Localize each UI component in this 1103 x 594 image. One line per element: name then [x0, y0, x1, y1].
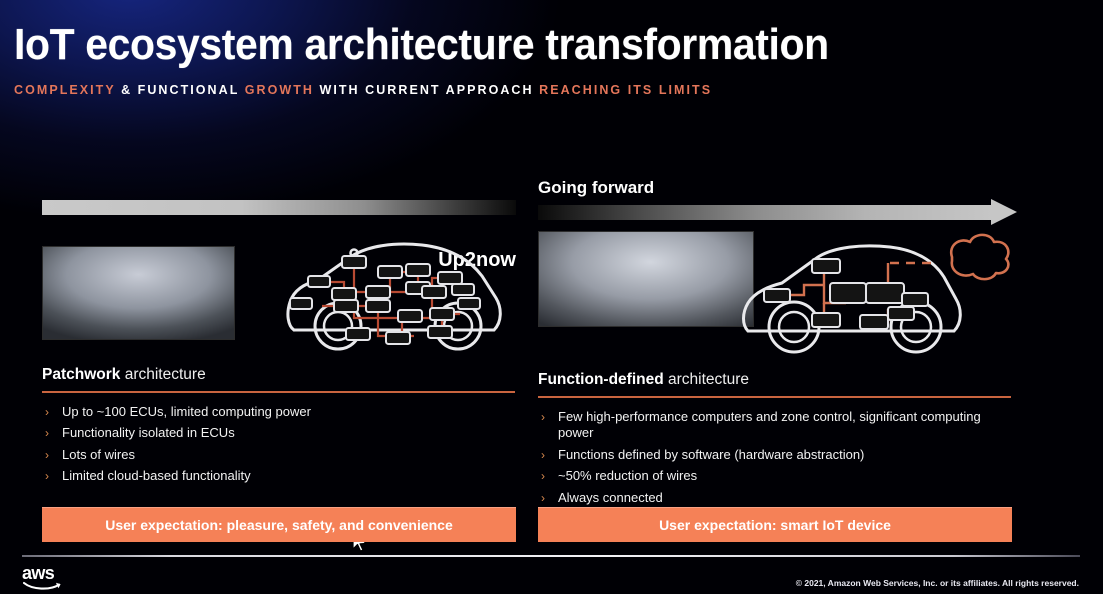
bullet-text: Limited cloud-based functionality [62, 468, 251, 483]
chevron-right-icon: › [45, 404, 49, 421]
slide-header: IoT ecosystem architecture transformatio… [14, 22, 1074, 97]
banner-user-expectation-future: User expectation: smart IoT device [538, 507, 1012, 542]
right-divider-rule [538, 396, 1011, 398]
footer-divider [22, 555, 1080, 557]
bullet-text: Functionality isolated in ECUs [62, 425, 235, 440]
subtitle-part-4: WITH CURRENT APPROACH [319, 83, 533, 97]
panel-future-architecture: Going forward [538, 178, 1018, 511]
car-photo-current [42, 246, 235, 340]
bullet-text: ~50% reduction of wires [558, 468, 697, 483]
car-photo-future [538, 231, 754, 327]
slide-subtitle: COMPLEXITY & FUNCTIONAL GROWTH WITH CURR… [14, 83, 1074, 97]
banner-user-expectation-current: User expectation: pleasure, safety, and … [42, 507, 516, 542]
list-item: › Functions defined by software (hardwar… [538, 447, 1018, 464]
copyright-text: © 2021, Amazon Web Services, Inc. or its… [796, 578, 1079, 588]
photo-backdrop [43, 247, 234, 339]
list-item: › Up to ~100 ECUs, limited computing pow… [42, 404, 522, 421]
list-item: › ~50% reduction of wires [538, 468, 1018, 485]
left-architecture-title: Patchwork architecture [42, 366, 522, 384]
list-item: › Lots of wires [42, 447, 522, 464]
chevron-right-icon: › [541, 490, 545, 507]
bullet-text: Up to ~100 ECUs, limited computing power [62, 404, 311, 419]
left-divider-rule [42, 391, 515, 393]
chevron-right-icon: › [541, 468, 545, 485]
left-arch-title-strong: Patchwork [42, 366, 120, 383]
right-bullet-list: › Few high-performance computers and zon… [538, 409, 1018, 507]
left-arch-title-light: architecture [125, 366, 206, 383]
chevron-right-icon: › [541, 409, 545, 426]
chevron-right-icon: › [45, 468, 49, 485]
chevron-right-icon: › [541, 447, 545, 464]
panel-current-architecture: Up2now [42, 178, 522, 490]
list-item: › Few high-performance computers and zon… [538, 409, 1018, 442]
aws-logo: aws [22, 565, 70, 591]
aws-wordmark: aws [22, 565, 70, 582]
list-item: › Always connected [538, 490, 1018, 507]
page-title: IoT ecosystem architecture transformatio… [14, 22, 1000, 69]
schematic-patchwork-ecu-network [282, 226, 512, 356]
subtitle-part-2: & FUNCTIONAL [121, 83, 239, 97]
banner-text: User expectation: pleasure, safety, and … [105, 517, 453, 533]
schematic-function-defined-network [738, 229, 1018, 357]
list-item: › Functionality isolated in ECUs [42, 425, 522, 442]
banner-text: User expectation: smart IoT device [659, 517, 891, 533]
slide-canvas: IoT ecosystem architecture transformatio… [0, 0, 1103, 594]
bullet-text: Few high-performance computers and zone … [558, 409, 981, 441]
subtitle-part-1: COMPLEXITY [14, 83, 116, 97]
photo-backdrop [539, 232, 753, 326]
subtitle-part-5: REACHING ITS LIMITS [539, 83, 712, 97]
left-media-row: Up2now [42, 224, 522, 356]
subtitle-part-3: GROWTH [245, 83, 314, 97]
timeline-arrow-future [538, 205, 993, 220]
bullet-text: Always connected [558, 490, 663, 505]
arrow-head-icon [991, 199, 1017, 225]
right-arch-title-strong: Function-defined [538, 371, 664, 388]
right-media-row [538, 229, 1018, 361]
bullet-text: Functions defined by software (hardware … [558, 447, 864, 462]
bullet-text: Lots of wires [62, 447, 135, 462]
right-panel-heading: Going forward [538, 178, 1018, 200]
right-architecture-title: Function-defined architecture [538, 371, 1018, 389]
left-bullet-list: › Up to ~100 ECUs, limited computing pow… [42, 404, 522, 485]
right-arch-title-light: architecture [668, 371, 749, 388]
timeline-bar-past [42, 200, 516, 215]
list-item: › Limited cloud-based functionality [42, 468, 522, 485]
chevron-right-icon: › [45, 425, 49, 442]
left-panel-heading-spacer [42, 178, 522, 200]
chevron-right-icon: › [45, 447, 49, 464]
